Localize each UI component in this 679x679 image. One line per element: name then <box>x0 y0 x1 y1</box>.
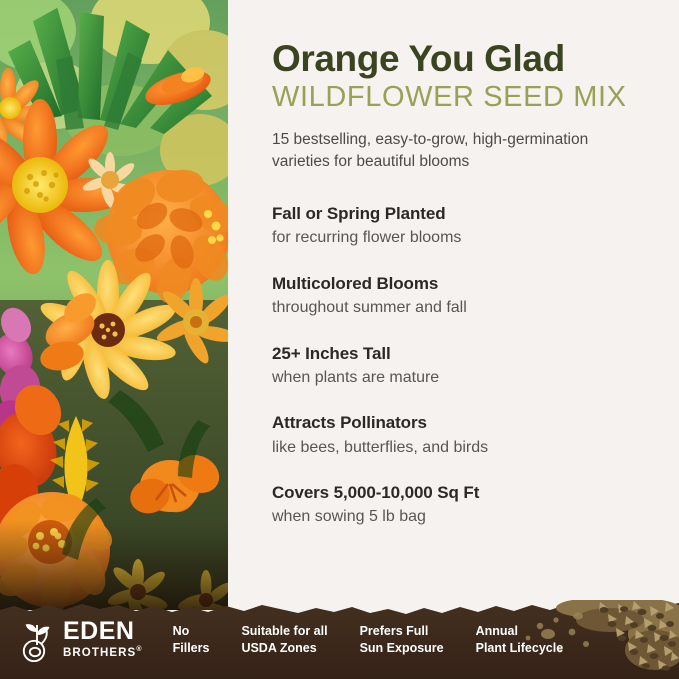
status-badge: Prefers Full Sun Exposure <box>360 623 444 656</box>
feature-description: when sowing 5 lb bag <box>272 507 643 528</box>
footer-content: EDEN BROTHERS® No Fillers Suitable for a… <box>0 600 679 679</box>
brand-logo: EDEN BROTHERS® <box>18 618 143 662</box>
feature-item: Multicolored Blooms throughout summer an… <box>272 273 643 319</box>
badge-line-1: Annual <box>476 623 564 640</box>
brand-footer-bar: EDEN BROTHERS® No Fillers Suitable for a… <box>0 600 679 679</box>
badge-line-2: USDA Zones <box>241 640 327 657</box>
feature-heading: Covers 5,000-10,000 Sq Ft <box>272 482 643 504</box>
badge-line-2: Sun Exposure <box>360 640 444 657</box>
badge-line-1: Prefers Full <box>360 623 444 640</box>
feature-heading: Multicolored Blooms <box>272 273 643 295</box>
feature-description: for recurring flower blooms <box>272 228 643 249</box>
feature-description: like bees, butterflies, and birds <box>272 438 643 459</box>
flower-photo <box>0 0 228 610</box>
brand-wordmark: EDEN BROTHERS® <box>63 619 143 659</box>
feature-item: Covers 5,000-10,000 Sq Ft when sowing 5 … <box>272 482 643 528</box>
feature-heading: 25+ Inches Tall <box>272 343 643 365</box>
brand-subname-text: BROTHERS <box>63 647 136 659</box>
footer-badges: No Fillers Suitable for all USDA Zones P… <box>173 623 564 656</box>
badge-line-1: No <box>173 623 210 640</box>
sprout-seedling-icon <box>18 618 56 662</box>
feature-list: Fall or Spring Planted for recurring flo… <box>272 203 643 528</box>
feature-item: Fall or Spring Planted for recurring flo… <box>272 203 643 249</box>
badge-line-2: Fillers <box>173 640 210 657</box>
status-badge: No Fillers <box>173 623 210 656</box>
badge-line-2: Plant Lifecycle <box>476 640 564 657</box>
status-badge: Suitable for all USDA Zones <box>241 623 327 656</box>
product-infographic-card: Orange You Glad WILDFLOWER SEED MIX 15 b… <box>0 0 679 679</box>
product-subtitle: WILDFLOWER SEED MIX <box>272 81 643 114</box>
brand-name: EDEN <box>63 619 143 644</box>
page-title: Orange You Glad <box>272 38 643 79</box>
feature-heading: Fall or Spring Planted <box>272 203 643 225</box>
feature-description: when plants are mature <box>272 368 643 389</box>
product-info-panel: Orange You Glad WILDFLOWER SEED MIX 15 b… <box>228 0 679 610</box>
feature-description: throughout summer and fall <box>272 298 643 319</box>
product-tagline: 15 bestselling, easy-to-grow, high-germi… <box>272 129 632 173</box>
feature-item: Attracts Pollinators like bees, butterfl… <box>272 412 643 458</box>
status-badge: Annual Plant Lifecycle <box>476 623 564 656</box>
feature-heading: Attracts Pollinators <box>272 412 643 434</box>
flower-photo-illustration <box>0 0 228 610</box>
feature-item: 25+ Inches Tall when plants are mature <box>272 343 643 389</box>
badge-line-1: Suitable for all <box>241 623 327 640</box>
registered-mark-icon: ® <box>136 646 142 653</box>
brand-subname: BROTHERS® <box>63 646 143 659</box>
